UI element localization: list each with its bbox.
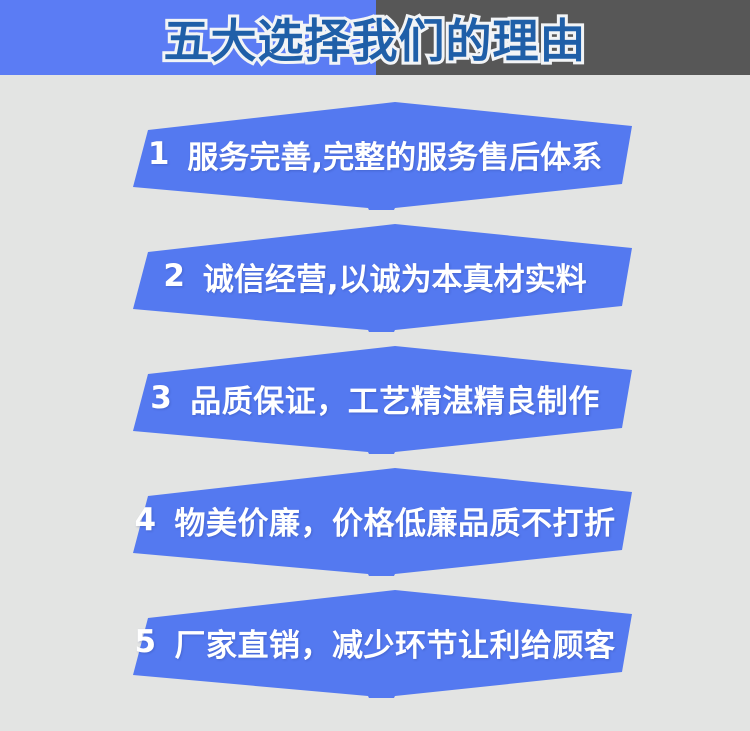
reason-number-2: 2 bbox=[163, 258, 185, 294]
reason-text-1: 1 服务完善,完整的服务售后体系 bbox=[0, 98, 750, 210]
page-header: 五大选择我们的理由 bbox=[0, 0, 750, 75]
promo-page: 五大选择我们的理由 1 服务完善,完整的服务售后体系 2 诚信经营,以诚为本真材… bbox=[0, 0, 750, 731]
reason-text-5: 5 厂家直销，减少环节让利给顾客 bbox=[0, 586, 750, 698]
reason-row-4[interactable]: 4 物美价廉，价格低廉品质不打折 bbox=[0, 464, 750, 576]
reason-row-3[interactable]: 3 品质保证，工艺精湛精良制作 bbox=[0, 342, 750, 454]
reason-number-3: 3 bbox=[150, 380, 172, 416]
reason-label-2: 诚信经营,以诚为本真材实料 bbox=[203, 254, 587, 299]
reason-text-4: 4 物美价廉，价格低廉品质不打折 bbox=[0, 464, 750, 576]
reason-row-1[interactable]: 1 服务完善,完整的服务售后体系 bbox=[0, 98, 750, 210]
reason-label-4: 物美价廉，价格低廉品质不打折 bbox=[175, 498, 616, 543]
reason-number-4: 4 bbox=[134, 502, 156, 538]
reasons-list: 1 服务完善,完整的服务售后体系 2 诚信经营,以诚为本真材实料 3 品质保证，… bbox=[0, 75, 750, 731]
reason-number-1: 1 bbox=[148, 136, 170, 172]
reason-label-5: 厂家直销，减少环节让利给顾客 bbox=[175, 620, 616, 665]
page-title: 五大选择我们的理由 bbox=[0, 0, 750, 75]
reason-text-3: 3 品质保证，工艺精湛精良制作 bbox=[0, 342, 750, 454]
reason-label-1: 服务完善,完整的服务售后体系 bbox=[187, 132, 602, 177]
reason-number-5: 5 bbox=[134, 624, 156, 660]
reason-row-2[interactable]: 2 诚信经营,以诚为本真材实料 bbox=[0, 220, 750, 332]
reason-text-2: 2 诚信经营,以诚为本真材实料 bbox=[0, 220, 750, 332]
reason-label-3: 品质保证，工艺精湛精良制作 bbox=[190, 376, 600, 421]
reason-row-5[interactable]: 5 厂家直销，减少环节让利给顾客 bbox=[0, 586, 750, 698]
